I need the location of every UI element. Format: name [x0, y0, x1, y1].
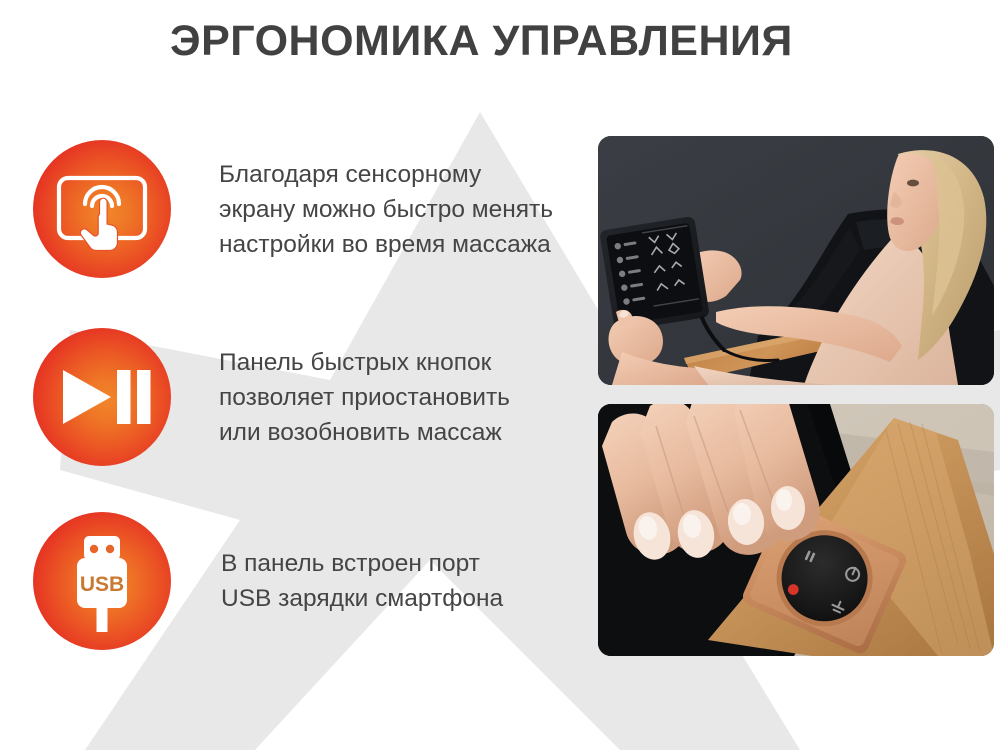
- play-pause-icon: [33, 328, 171, 466]
- usb-plug-icon: USB: [33, 512, 171, 650]
- feature-text-usb: В панель встроен порт USB зарядки смартф…: [221, 546, 503, 616]
- play-triangle: [63, 370, 111, 424]
- page-title: ЭРГОНОМИКА УПРАВЛЕНИЯ: [170, 18, 850, 65]
- feature-row-play-pause: Панель быстрых кнопок позволяет приостан…: [33, 328, 510, 466]
- photo-woman-tablet-remote: [598, 136, 994, 385]
- usb-label: USB: [80, 573, 124, 596]
- pause-bar-left: [117, 370, 131, 424]
- feature-row-touchscreen: Благодаря сенсорному экрану можно быстро…: [33, 140, 553, 278]
- feature-row-usb: USB В панель встроен порт USB зарядки см…: [33, 512, 503, 650]
- pause-bar-right: [137, 370, 151, 424]
- infographic-page: ЭРГОНОМИКА УПРАВЛЕНИЯ Благодаря сенсорно…: [0, 0, 1000, 750]
- photo-hand-armrest-control: [598, 404, 994, 656]
- feature-text-play-pause: Панель быстрых кнопок позволяет приостан…: [219, 345, 510, 450]
- touchscreen-hand-icon: [33, 140, 171, 278]
- feature-text-touchscreen: Благодаря сенсорному экрану можно быстро…: [219, 157, 553, 262]
